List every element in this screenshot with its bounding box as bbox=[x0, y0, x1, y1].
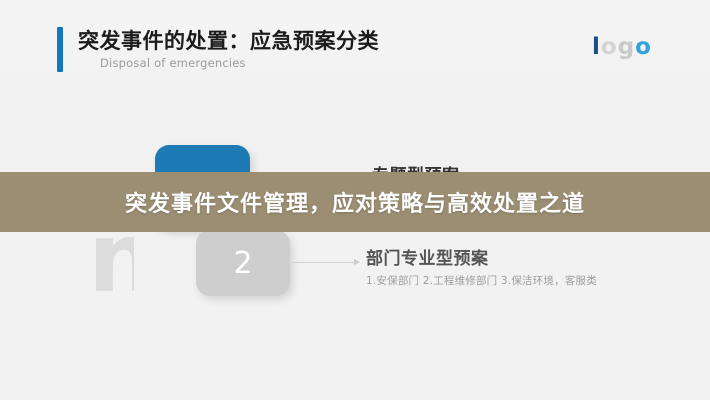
caption-banner: 突发事件文件管理，应对策略与高效处置之道 bbox=[0, 172, 710, 232]
connector-line-2 bbox=[292, 262, 354, 263]
logo: logo bbox=[592, 36, 652, 59]
step-number-box-2: 2 bbox=[196, 230, 290, 296]
caption-text: 突发事件文件管理，应对策略与高效处置之道 bbox=[125, 186, 585, 218]
logo-char-4: o bbox=[635, 34, 652, 60]
logo-char-3: g bbox=[618, 34, 635, 60]
logo-char-2: o bbox=[601, 34, 618, 60]
step-text-2: 部门专业型预案 1.安保部门 2.工程维修部门 3.保洁环境，客服类 bbox=[366, 244, 597, 288]
arrow-head-icon-2 bbox=[354, 259, 360, 265]
step-subtitle-2: 1.安保部门 2.工程维修部门 3.保洁环境，客服类 bbox=[366, 273, 597, 288]
page-subtitle: Disposal of emergencies bbox=[100, 56, 246, 70]
page-title: 突发事件的处置：应急预案分类 bbox=[78, 25, 379, 55]
title-accent-bar bbox=[57, 27, 63, 72]
decorative-watermark-glyph: n bbox=[88, 222, 134, 294]
logo-char-1: l bbox=[592, 34, 601, 60]
step-title-2: 部门专业型预案 bbox=[366, 244, 597, 269]
slide-canvas: 突发事件的处置：应急预案分类 Disposal of emergencies l… bbox=[0, 0, 710, 400]
